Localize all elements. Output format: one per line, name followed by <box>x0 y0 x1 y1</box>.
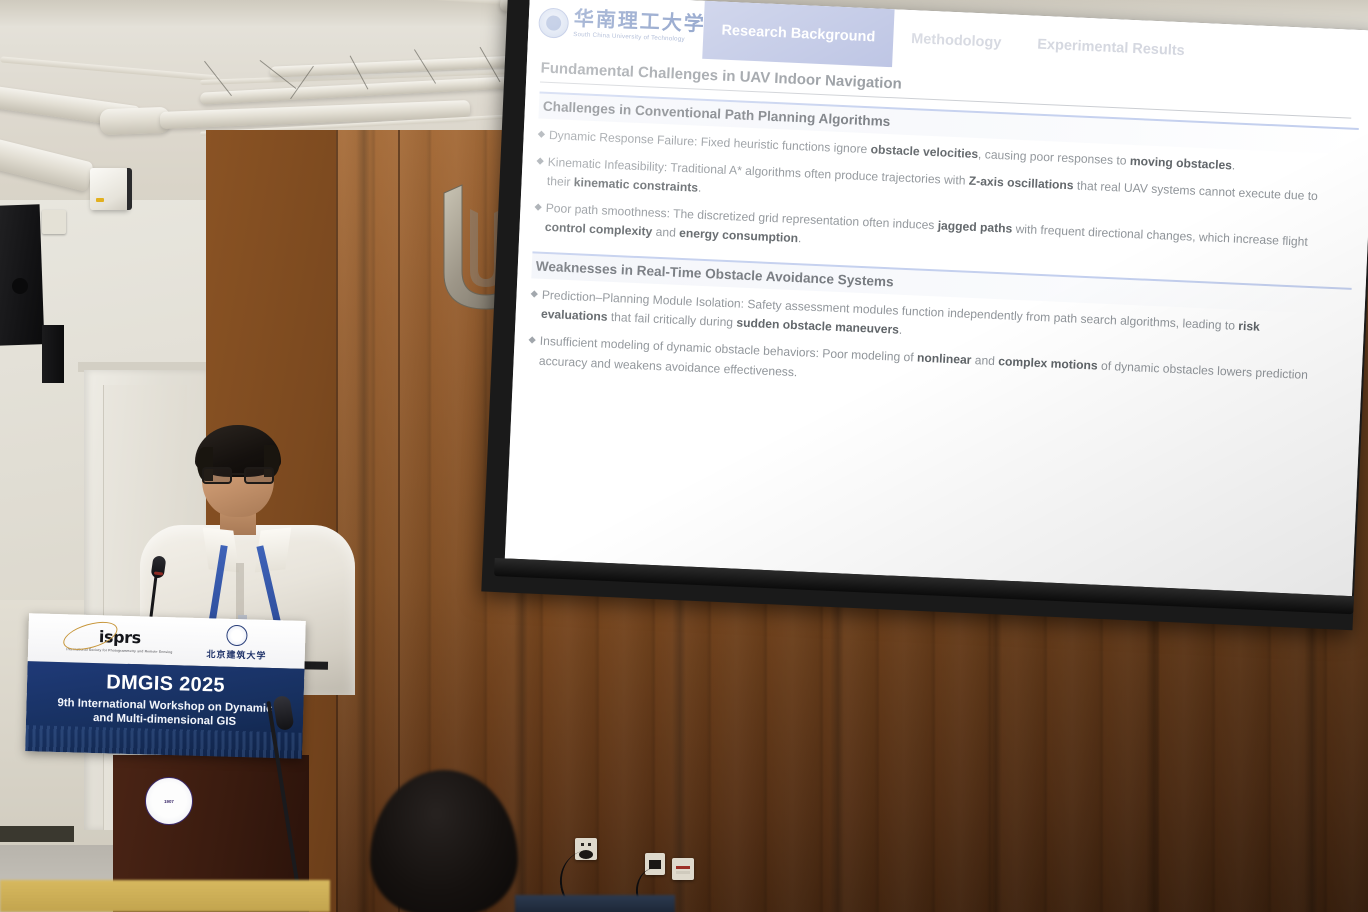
ceiling-speaker <box>0 204 44 346</box>
subtitle-line-2: and Multi-dimensional GIS <box>93 712 236 728</box>
bucea-name-cn: 北京建筑大学 <box>206 647 266 662</box>
speaker-cone-icon <box>12 278 28 294</box>
status-led-icon <box>96 198 104 202</box>
front-table <box>0 880 330 912</box>
diamond-bullet-icon: ◆ <box>535 152 544 191</box>
bucea-seal-icon <box>226 625 248 647</box>
diamond-bullet-icon: ◆ <box>537 125 545 145</box>
audio-outlet[interactable] <box>672 858 694 880</box>
conference-title: DMGIS 2025 <box>27 669 305 700</box>
diamond-bullet-icon: ◆ <box>529 285 538 324</box>
lens-right <box>244 467 274 484</box>
lens-left <box>202 467 232 484</box>
projection-screen: 华南理工大学 South China University of Technol… <box>508 0 1368 602</box>
banner-logo-row: isprs International Society for Photogra… <box>28 613 306 669</box>
screen-frame: 华南理工大学 South China University of Technol… <box>481 0 1368 630</box>
conference-subtitle: 9th International Workshop on Dynamic an… <box>26 696 304 732</box>
isprs-logo: isprs International Society for Photogra… <box>66 626 173 654</box>
open-laptop <box>515 895 675 912</box>
diamond-bullet-icon: ◆ <box>527 331 536 370</box>
tab-label: Research Background <box>721 23 875 46</box>
university-seal-icon <box>538 7 569 38</box>
tab-label: Experimental Results <box>1037 37 1185 60</box>
page-title: Fundamental Challenges in UAV Indoor Nav… <box>540 60 902 98</box>
screen-surface: 华南理工大学 South China University of Technol… <box>505 0 1368 596</box>
podium: 1907 isprs International Society for Pho… <box>27 617 309 912</box>
diamond-bullet-icon: ◆ <box>533 198 542 237</box>
bucea-logo: 北京建筑大学 <box>206 624 267 662</box>
tab-research-background[interactable]: Research Background <box>702 1 894 67</box>
university-emblem-icon: 1907 <box>145 777 193 825</box>
speaker-mount-bracket <box>42 325 64 383</box>
presentation-slide: 华南理工大学 South China University of Technol… <box>505 0 1368 596</box>
section-conventional-path-planning: Challenges in Conventional Path Planning… <box>533 92 1359 274</box>
section-obstacle-avoidance: Weaknesses in Real-Time Obstacle Avoidan… <box>527 251 1351 407</box>
conference-room-scene: 华南理工大学 South China University of Technol… <box>0 0 1368 912</box>
institution-logo: 华南理工大学 South China University of Technol… <box>527 0 704 59</box>
tab-methodology[interactable]: Methodology <box>892 9 1021 73</box>
tab-experimental-results[interactable]: Experimental Results <box>1018 15 1204 81</box>
emblem-year: 1907 <box>164 799 174 804</box>
conference-banner: isprs International Society for Photogra… <box>25 613 306 759</box>
glasses-bridge <box>232 473 244 475</box>
banner-text-block: DMGIS 2025 9th International Workshop on… <box>25 661 304 759</box>
wall-mounted-control-box[interactable] <box>90 168 128 210</box>
power-outlet[interactable] <box>42 210 66 234</box>
tab-label: Methodology <box>911 31 1002 51</box>
subtitle-line-1: 9th International Workshop on Dynamic <box>57 697 272 715</box>
glasses-icon <box>200 467 278 484</box>
